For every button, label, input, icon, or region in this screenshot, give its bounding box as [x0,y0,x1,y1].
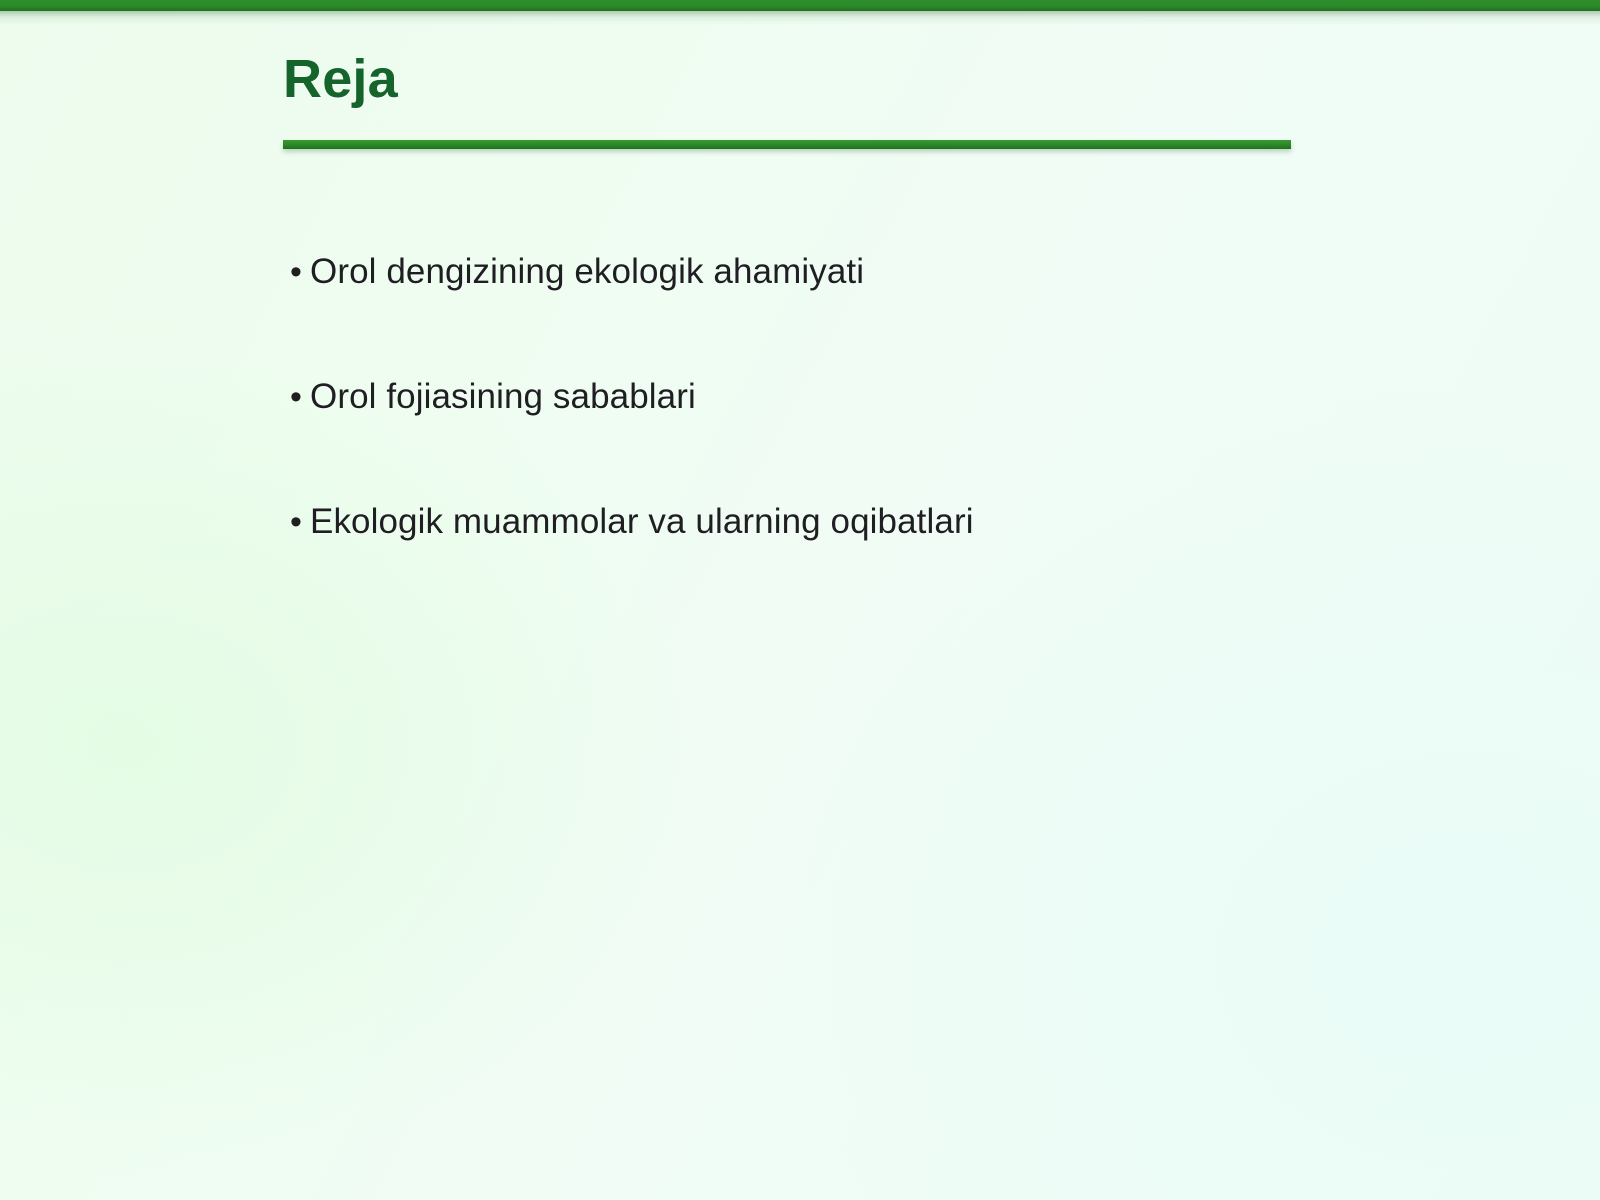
list-item-label: Orol fojiasining sabablari [310,377,696,417]
bullet-dot-icon: • [290,380,310,414]
bullet-dot-icon: • [290,255,310,289]
list-item: • Ekologik muammolar va ularning oqibatl… [290,502,1440,627]
list-item: • Orol dengizining ekologik ahamiyati [290,252,1440,377]
presentation-slide: Reja • Orol dengizining ekologik ahamiya… [0,0,1600,1200]
title-block: Reja [283,52,1293,106]
bullet-dot-icon: • [290,505,310,539]
agenda-bullet-list: • Orol dengizining ekologik ahamiyati • … [290,252,1440,627]
list-item-label: Ekologik muammolar va ularning oqibatlar… [310,502,974,542]
top-accent-band-shadow [0,11,1600,25]
top-accent-band [0,0,1600,11]
page-title: Reja [283,52,1293,106]
title-underline-rule [283,140,1291,149]
list-item-label: Orol dengizining ekologik ahamiyati [310,252,864,292]
list-item: • Orol fojiasining sabablari [290,377,1440,502]
